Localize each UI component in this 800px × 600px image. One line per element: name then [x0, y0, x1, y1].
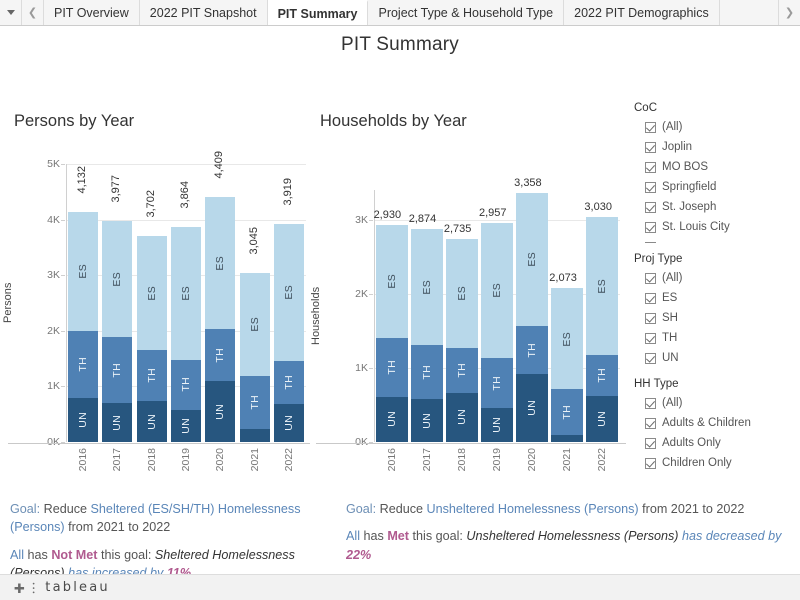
filter-item-children-only[interactable]: Children Only — [634, 453, 800, 473]
x-axis-tick-label: 2019 — [491, 448, 503, 471]
bar-total-label: 3,358 — [514, 177, 542, 189]
x-axis-tick-label: 2018 — [456, 448, 468, 471]
checkbox-icon[interactable] — [645, 122, 656, 133]
goal-result-pct: 22% — [346, 548, 371, 562]
y-axis-tick-label: 1K — [26, 380, 60, 392]
x-axis-tick-label: 2019 — [180, 448, 192, 471]
goal-result-pct: 11% — [167, 566, 191, 574]
bar-2021[interactable]: THES — [551, 190, 583, 442]
bar-2017[interactable]: UNTHES — [411, 190, 443, 442]
tab-2022-pit-demographics[interactable]: 2022 PIT Demographics — [564, 0, 720, 25]
goal-result-verb: has increased by — [68, 566, 163, 574]
checkbox-icon[interactable] — [645, 398, 656, 409]
bar-total-label: 2,957 — [479, 207, 507, 219]
bar-segment-label: TH — [180, 377, 192, 392]
bar-segment-label: ES — [180, 286, 192, 301]
filter-item-label: Adults Only — [662, 437, 721, 449]
filter-group-coc: CoC(All)JoplinMO BOSSpringfieldSt. Josep… — [634, 102, 800, 243]
filter-title-coc: CoC — [634, 102, 800, 114]
checkbox-icon[interactable] — [645, 273, 656, 284]
bar-total-label: 2,930 — [374, 209, 402, 221]
x-axis-tick-label: 2016 — [386, 448, 398, 471]
bar-segment-label: UN — [180, 418, 192, 434]
bar-segment-th[interactable]: TH — [171, 360, 201, 410]
bar-segment-es[interactable]: ES — [137, 236, 167, 350]
filter-item-label: TH — [662, 332, 677, 344]
goal-scope: All — [346, 529, 360, 543]
filter-item-label: St. Louis City — [662, 221, 730, 233]
checkbox-icon[interactable] — [645, 142, 656, 153]
y-axis-title: Households — [310, 190, 322, 442]
filter-title-hh-type: HH Type — [634, 378, 800, 390]
goal-result-verb: has decreased by — [682, 529, 781, 543]
goal-has: has — [364, 529, 384, 543]
goal-status: Not Met — [51, 548, 97, 562]
tableau-footer: ✚︙ tableau — [0, 574, 800, 600]
tab-pit-overview[interactable]: PIT Overview — [44, 0, 140, 25]
workbook-menu-button[interactable] — [0, 0, 22, 25]
bar-segment-un[interactable]: UN — [376, 397, 408, 442]
chart-persons-by-year[interactable]: 0K1K2K3K4K5KPersonsUNTHES4,1322016UNTHES… — [8, 144, 310, 484]
tabs-scroll-right-button[interactable]: ❯ — [778, 0, 800, 25]
bar-segment-un[interactable]: UN — [102, 403, 132, 442]
bar-total-label: 4,132 — [76, 166, 88, 194]
filter-title-proj-type: Proj Type — [634, 253, 800, 265]
filter-group-spacer — [634, 475, 800, 483]
goal-status: Met — [387, 529, 409, 543]
bar-segment-es[interactable]: ES — [240, 273, 270, 376]
x-axis-tick-label: 2021 — [561, 448, 573, 471]
bar-segment-th[interactable]: TH — [68, 331, 98, 399]
filter-item-un[interactable]: UN — [634, 348, 800, 368]
bar-segment-un[interactable]: UN — [446, 393, 478, 442]
tab-2022-pit-snapshot[interactable]: 2022 PIT Snapshot — [140, 0, 268, 25]
bar-total-label: 2,874 — [409, 213, 437, 225]
y-axis-tick-label: 4K — [26, 214, 60, 226]
tab-label: 2022 PIT Demographics — [574, 6, 709, 20]
bar-2016[interactable]: UNTHES — [68, 164, 98, 442]
goal-text-sheltered: Goal: Reduce Sheltered (ES/SH/TH) Homele… — [10, 500, 340, 574]
caret-down-icon — [7, 10, 15, 15]
goal-verb: Reduce — [44, 502, 87, 516]
x-axis-line — [8, 443, 310, 444]
filter-item-all[interactable]: (All) — [634, 117, 800, 137]
filter-group-spacer — [634, 370, 800, 378]
bar-segment-label: TH — [249, 395, 261, 410]
goal-line-2: All has Met this goal: Unsheltered Homel… — [346, 527, 796, 564]
bar-segment-th[interactable]: TH — [205, 329, 235, 381]
checkbox-icon[interactable] — [645, 202, 656, 213]
filter-item-label: ES — [662, 292, 677, 304]
filter-item-sh[interactable]: SH — [634, 308, 800, 328]
bar-segment-es[interactable]: ES — [376, 225, 408, 338]
bar-segment-th[interactable]: TH — [551, 389, 583, 435]
checkbox-icon[interactable] — [645, 293, 656, 304]
bar-2019[interactable]: UNTHES — [481, 190, 513, 442]
bar-2022[interactable]: UNTHES — [586, 190, 618, 442]
y-axis-line — [66, 164, 67, 442]
x-axis-tick-label: 2022 — [283, 448, 295, 471]
bar-total-label: 3,702 — [145, 190, 157, 218]
bar-segment-label: TH — [491, 376, 503, 391]
filter-item-label: (All) — [662, 272, 682, 284]
bar-2017[interactable]: UNTHES — [102, 164, 132, 442]
bar-segment-es[interactable]: ES — [205, 197, 235, 330]
checkbox-icon[interactable] — [645, 458, 656, 469]
x-axis-tick-label: 2020 — [526, 448, 538, 471]
bar-segment-label: ES — [526, 252, 538, 267]
bar-segment-un[interactable] — [551, 435, 583, 442]
bar-segment-label: UN — [111, 415, 123, 431]
bar-segment-th[interactable]: TH — [446, 348, 478, 393]
bar-segment-label: ES — [249, 317, 261, 332]
bar-segment-label: UN — [283, 415, 295, 431]
bar-total-label: 3,977 — [110, 175, 122, 203]
bar-total-label: 4,409 — [213, 151, 225, 179]
filter-list-proj-type[interactable]: (All)ESSHTHUN — [634, 268, 800, 368]
checkbox-icon[interactable] — [645, 313, 656, 324]
bar-total-label: 2,073 — [549, 272, 577, 284]
bar-2022[interactable]: UNTHES — [274, 164, 304, 442]
bar-segment-un[interactable]: UN — [481, 408, 513, 442]
bar-segment-th[interactable]: TH — [240, 376, 270, 429]
bar-segment-es[interactable]: ES — [516, 193, 548, 326]
bar-segment-th[interactable]: TH — [411, 345, 443, 399]
filter-item-th[interactable]: TH — [634, 328, 800, 348]
filter-group-hh-type: HH Type(All)Adults & ChildrenAdults Only… — [634, 378, 800, 473]
checkbox-icon[interactable] — [645, 222, 656, 233]
bar-segment-label: TH — [456, 363, 468, 378]
bar-total-label: 2,735 — [444, 223, 472, 235]
y-axis-tick-label: 2K — [334, 288, 368, 300]
bar-segment-label: ES — [456, 286, 468, 301]
goal-has: has — [28, 548, 48, 562]
filter-item-all[interactable]: (All) — [634, 393, 800, 413]
checkbox-icon[interactable] — [645, 242, 656, 244]
y-axis-tick-label: 2K — [26, 325, 60, 337]
x-axis-tick-label: 2016 — [77, 448, 89, 471]
goal-result-metric: Unsheltered Homelessness (Persons) — [466, 529, 678, 543]
bar-total-label: 3,030 — [584, 201, 612, 213]
x-axis-tick-label: 2021 — [249, 448, 261, 471]
tab-label: PIT Summary — [278, 7, 358, 21]
goal-text-unsheltered: Goal: Reduce Unsheltered Homelessness (P… — [346, 500, 796, 574]
checkbox-icon[interactable] — [645, 353, 656, 364]
bar-segment-es[interactable]: ES — [102, 221, 132, 337]
tab-pit-summary[interactable]: PIT Summary — [268, 0, 369, 25]
filter-item-adults-only[interactable]: Adults Only — [634, 433, 800, 453]
bar-segment-th[interactable]: TH — [376, 338, 408, 397]
bar-2016[interactable]: UNTHES — [376, 190, 408, 442]
checkbox-icon[interactable] — [645, 438, 656, 449]
y-axis-title: Persons — [2, 164, 14, 442]
filter-item-label: (All) — [662, 121, 682, 133]
bar-segment-label: TH — [526, 343, 538, 358]
goal-line-1: Goal: Reduce Sheltered (ES/SH/TH) Homele… — [10, 500, 340, 537]
tableau-logo-text: tableau — [45, 580, 110, 595]
checkbox-icon[interactable] — [645, 418, 656, 429]
goal-label: Goal: — [10, 502, 40, 516]
filter-item-label: Joplin — [662, 141, 692, 153]
bar-segment-label: TH — [596, 368, 608, 383]
bar-2020[interactable]: UNTHES — [516, 190, 548, 442]
bar-segment-label: ES — [146, 286, 158, 301]
goal-verb: Reduce — [380, 502, 423, 516]
bar-segment-label: ES — [386, 274, 398, 289]
goal-line-2: All has Not Met this goal: Sheltered Hom… — [10, 546, 340, 575]
bar-segment-label: TH — [214, 348, 226, 363]
filter-item-all[interactable]: (All) — [634, 268, 800, 288]
bar-segment-es[interactable]: ES — [551, 288, 583, 389]
bar-segment-th[interactable]: TH — [274, 361, 304, 405]
workbook-tab-bar: ❮ PIT Overview2022 PIT SnapshotPIT Summa… — [0, 0, 800, 26]
bar-segment-es[interactable]: ES — [411, 229, 443, 345]
filter-list-coc[interactable]: (All)JoplinMO BOSSpringfieldSt. JosephSt… — [634, 117, 800, 243]
y-axis-tick-label: 3K — [26, 269, 60, 281]
x-axis-tick-label: 2017 — [111, 448, 123, 471]
filter-item-label: Adults & Children — [662, 417, 751, 429]
goal-metric-link[interactable]: Unsheltered Homelessness (Persons) — [427, 502, 639, 516]
bar-segment-label: TH — [111, 363, 123, 378]
bar-segment-label: UN — [456, 409, 468, 425]
bar-segment-un[interactable]: UN — [274, 404, 304, 442]
x-axis-tick-label: 2020 — [214, 448, 226, 471]
tab-list: PIT Overview2022 PIT SnapshotPIT Summary… — [44, 0, 778, 25]
filter-item-joplin[interactable]: Joplin — [634, 137, 800, 157]
bar-segment-th[interactable]: TH — [586, 355, 618, 395]
bar-segment-label: ES — [421, 280, 433, 295]
dashboard: PIT Summary Persons by Year Households b… — [0, 26, 800, 574]
bar-segment-label: TH — [283, 375, 295, 390]
filter-item-es[interactable]: ES — [634, 288, 800, 308]
page-title: PIT Summary — [0, 26, 800, 56]
goal-label: Goal: — [346, 502, 376, 516]
bar-segment-un[interactable]: UN — [411, 399, 443, 442]
bar-segment-es[interactable]: ES — [446, 239, 478, 347]
x-axis-tick-label: 2017 — [421, 448, 433, 471]
bar-segment-es[interactable]: ES — [586, 217, 618, 355]
bar-segment-label: UN — [386, 411, 398, 427]
filter-item-label: MO BOS — [662, 161, 708, 173]
tab-project-type-household-type[interactable]: Project Type & Household Type — [368, 0, 564, 25]
filter-item-label: Springfield — [662, 181, 716, 193]
checkbox-icon[interactable] — [645, 333, 656, 344]
goal-line-1: Goal: Reduce Unsheltered Homelessness (P… — [346, 500, 796, 518]
bar-segment-es[interactable]: ES — [481, 223, 513, 358]
filter-item-label: (All) — [662, 397, 682, 409]
filter-group-proj-type: Proj Type(All)ESSHTHUN — [634, 253, 800, 368]
goal-mid: this goal: — [413, 529, 463, 543]
bar-segment-un[interactable]: UN — [205, 381, 235, 442]
bar-segment-label: UN — [214, 404, 226, 420]
bar-segment-th[interactable]: TH — [102, 337, 132, 403]
chart-title-persons: Persons by Year — [0, 104, 310, 131]
bar-segment-label: UN — [421, 413, 433, 429]
filter-item-adults-children[interactable]: Adults & Children — [634, 413, 800, 433]
goal-period: from 2021 to 2022 — [68, 520, 170, 534]
tab-label: Project Type & Household Type — [378, 6, 553, 20]
tableau-logo[interactable]: ✚︙ tableau — [14, 578, 110, 597]
checkbox-icon[interactable] — [645, 182, 656, 193]
y-axis-tick-label: 3K — [334, 214, 368, 226]
bar-segment-label: UN — [596, 411, 608, 427]
bar-segment-label: TH — [386, 360, 398, 375]
bar-segment-label: ES — [77, 264, 89, 279]
bar-segment-label: UN — [526, 400, 538, 416]
bar-segment-label: ES — [596, 279, 608, 294]
filter-item-mo-bos[interactable]: MO BOS — [634, 157, 800, 177]
bar-segment-label: ES — [111, 272, 123, 287]
bar-2020[interactable]: UNTHES — [205, 164, 235, 442]
bar-segment-label: TH — [561, 405, 573, 420]
x-axis-tick-label: 2018 — [146, 448, 158, 471]
chevron-left-icon: ❮ — [28, 6, 37, 19]
chart-title-households: Households by Year — [310, 104, 630, 131]
filter-item-springfield[interactable]: Springfield — [634, 177, 800, 197]
bar-segment-un[interactable]: UN — [516, 374, 548, 442]
filter-group-spacer — [634, 245, 800, 253]
bar-segment-label: TH — [77, 357, 89, 372]
tab-label: PIT Overview — [54, 6, 129, 20]
bar-segment-es[interactable]: ES — [274, 224, 304, 361]
y-axis-tick-label: 1K — [334, 362, 368, 374]
bar-total-label: 3,045 — [248, 227, 260, 255]
y-axis-tick-label: 5K — [26, 158, 60, 170]
chevron-right-icon: ❯ — [785, 6, 794, 19]
bar-segment-th[interactable]: TH — [137, 350, 167, 401]
bar-segment-label: TH — [421, 365, 433, 380]
goal-mid: this goal: — [101, 548, 151, 562]
bar-segment-label: ES — [214, 256, 226, 271]
bar-segment-label: UN — [491, 417, 503, 433]
bar-segment-un[interactable]: UN — [586, 396, 618, 442]
chart-households-by-year[interactable]: 0K1K2K3KHouseholdsUNTHES2,9302016UNTHES2… — [316, 144, 626, 484]
bar-segment-un[interactable]: UN — [137, 401, 167, 442]
checkbox-icon[interactable] — [645, 162, 656, 173]
filter-item-clipped[interactable] — [634, 237, 800, 243]
bar-total-label: 3,864 — [179, 181, 191, 209]
bar-segment-th[interactable]: TH — [516, 326, 548, 373]
bar-2021[interactable]: THES — [240, 164, 270, 442]
tableau-logo-icon: ✚︙ — [14, 578, 42, 597]
bar-total-label: 3,919 — [282, 178, 294, 206]
bar-segment-un[interactable] — [240, 429, 270, 442]
bar-segment-un[interactable]: UN — [68, 398, 98, 442]
bar-segment-es[interactable]: ES — [171, 227, 201, 360]
tab-label: 2022 PIT Snapshot — [150, 6, 257, 20]
filter-item-label: Children Only — [662, 457, 732, 469]
bar-segment-es[interactable]: ES — [68, 212, 98, 330]
filter-item-label: St. Joseph — [662, 201, 716, 213]
filter-item-st-louis-city[interactable]: St. Louis City — [634, 217, 800, 237]
x-axis-tick-label: 2022 — [596, 448, 608, 471]
filter-list-hh-type[interactable]: (All)Adults & ChildrenAdults OnlyChildre… — [634, 393, 800, 473]
bar-segment-label: UN — [146, 414, 158, 430]
bar-segment-label: ES — [283, 285, 295, 300]
bar-segment-label: UN — [77, 412, 89, 428]
filter-item-st-joseph[interactable]: St. Joseph — [634, 197, 800, 217]
filter-item-label: UN — [662, 352, 679, 364]
goal-scope: All — [10, 548, 24, 562]
bar-segment-label: ES — [491, 283, 503, 298]
x-axis-line — [316, 443, 626, 444]
goal-period: from 2021 to 2022 — [642, 502, 744, 516]
bar-segment-th[interactable]: TH — [481, 358, 513, 408]
tabs-scroll-left-button[interactable]: ❮ — [22, 0, 44, 25]
bar-segment-label: TH — [146, 368, 158, 383]
bar-segment-label: ES — [561, 332, 573, 347]
filter-panel: CoC(All)JoplinMO BOSSpringfieldSt. Josep… — [634, 102, 800, 483]
filter-item-label: SH — [662, 312, 678, 324]
bar-segment-un[interactable]: UN — [171, 410, 201, 442]
